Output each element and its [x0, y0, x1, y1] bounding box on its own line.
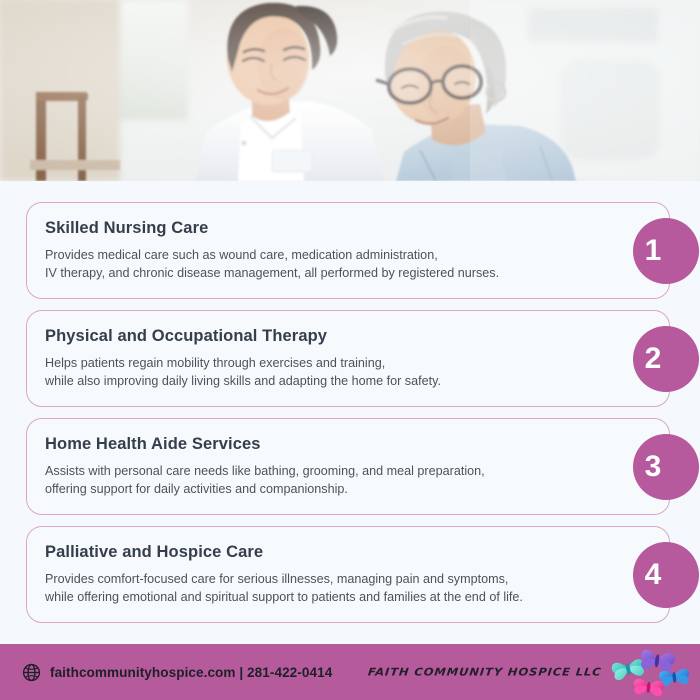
service-card[interactable]: Palliative and Hospice Care Provides com… [26, 526, 670, 623]
service-card[interactable]: Skilled Nursing Care Provides medical ca… [26, 202, 670, 299]
infographic-page: Skilled Nursing Care Provides medical ca… [0, 0, 700, 700]
service-card-title: Physical and Occupational Therapy [45, 327, 579, 347]
footer-contact-text: faithcommunityhospice.com | 281-422-0414 [50, 665, 332, 680]
butterflies-logo [610, 644, 694, 700]
brand-wordmark: FAITH COMMUNITY HOSPICE LLC [368, 666, 603, 679]
footer-brand-group: FAITH COMMUNITY HOSPICE LLC [368, 644, 694, 700]
service-card-title: Skilled Nursing Care [45, 219, 579, 239]
footer-contact-group[interactable]: faithcommunityhospice.com | 281-422-0414 [22, 663, 332, 682]
hero-photo-illustration [0, 0, 700, 181]
service-card-description: Helps patients regain mobility through e… [45, 354, 579, 391]
service-card-description: Provides comfort-focused care for seriou… [45, 570, 579, 607]
service-card-number-badge: 3 [633, 434, 699, 500]
hero-photo [0, 0, 700, 181]
service-card-number-badge: 2 [633, 326, 699, 392]
service-card-description: Assists with personal care needs like ba… [45, 462, 579, 499]
footer-bar: faithcommunityhospice.com | 281-422-0414… [0, 644, 700, 700]
service-card-number-badge: 1 [633, 218, 699, 284]
service-card-title: Palliative and Hospice Care [45, 543, 579, 563]
service-card-title: Home Health Aide Services [45, 435, 579, 455]
service-card-number-badge: 4 [633, 542, 699, 608]
globe-icon [22, 663, 41, 682]
service-card[interactable]: Home Health Aide Services Assists with p… [26, 418, 670, 515]
services-card-list: Skilled Nursing Care Provides medical ca… [0, 181, 700, 623]
service-card[interactable]: Physical and Occupational Therapy Helps … [26, 310, 670, 407]
service-card-description: Provides medical care such as wound care… [45, 246, 579, 283]
